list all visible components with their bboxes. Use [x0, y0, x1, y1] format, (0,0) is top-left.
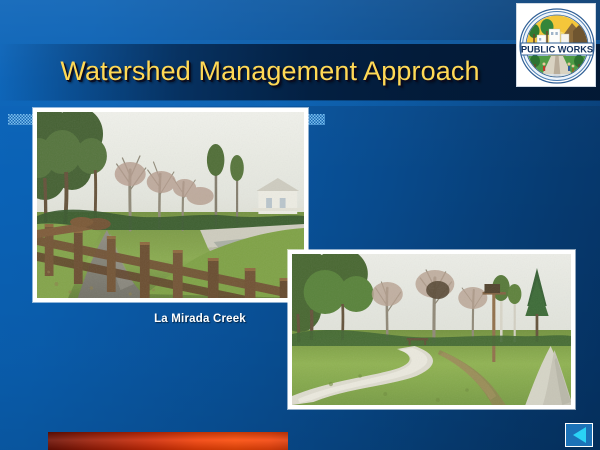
decorative-dither-bar-right — [305, 114, 325, 125]
photo-caption-la-mirada-creek: La Mirada Creek — [100, 313, 300, 325]
la-county-public-works-seal-icon: PUBLIC WORKS — [516, 3, 596, 87]
presentation-slide: Watershed Management Approach — [0, 0, 600, 450]
slide-title: Watershed Management Approach — [0, 56, 540, 87]
previous-slide-button[interactable] — [565, 423, 593, 447]
triangle-left-icon — [573, 427, 586, 443]
decorative-dither-bar-left — [8, 114, 36, 125]
bottom-accent-bar — [48, 432, 288, 450]
seal-banner-text: PUBLIC WORKS — [521, 44, 593, 54]
title-band-underline — [0, 100, 600, 106]
photo-creek-with-wooden-fence-and-trail — [33, 108, 308, 302]
photo-winding-park-path-through-grass — [288, 250, 575, 409]
